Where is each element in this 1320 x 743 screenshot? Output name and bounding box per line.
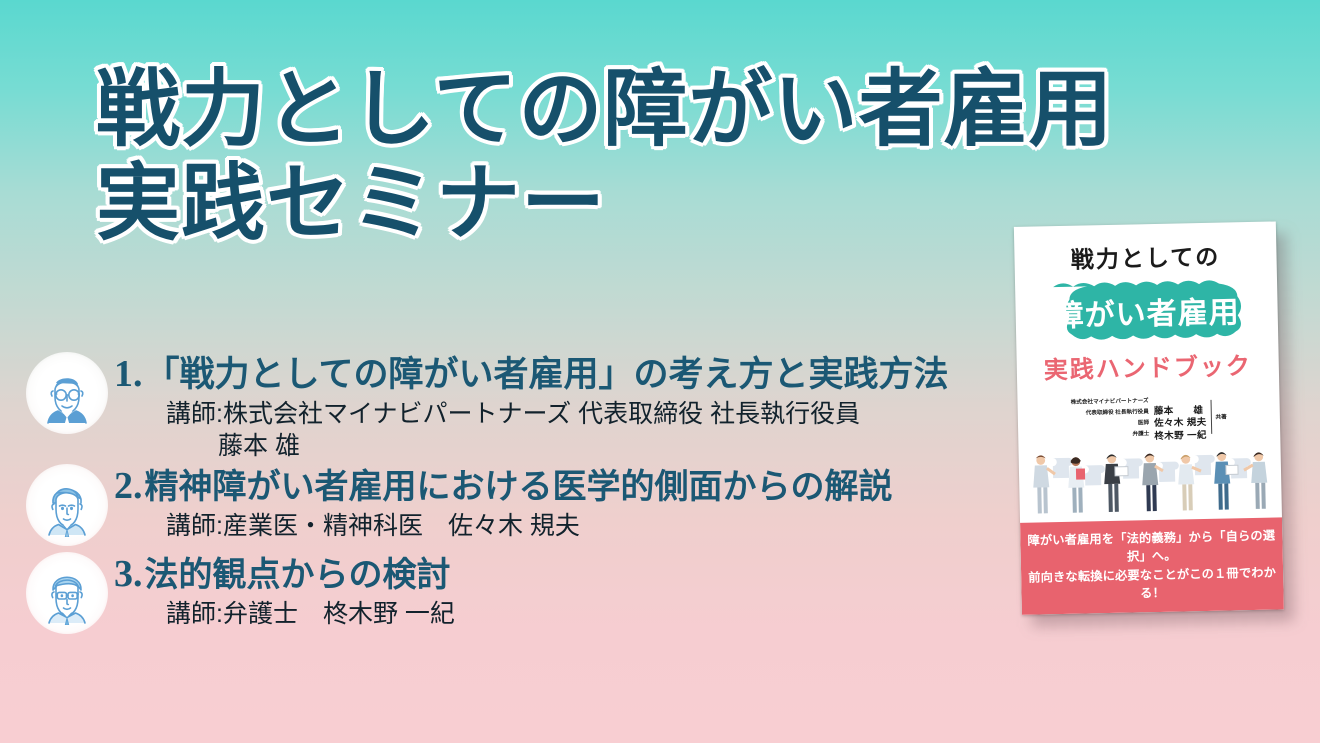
agenda-item-1-speaker-line1: 講師:株式会社マイナビパートナーズ 代表取締役 社長執行役員 bbox=[166, 400, 860, 428]
book-banner: 障がい者雇用を「法的義務」から「自らの選択」へ。 前向きな転換に必要なことがこの… bbox=[1020, 518, 1284, 615]
book-banner-line2: 前向きな転換に必要なことがこの１冊でわかる！ bbox=[1025, 563, 1280, 605]
agenda-item-3-heading: 3.法的観点からの検討 bbox=[114, 554, 1026, 594]
agenda-item-1-title: 「戦力としての障がい者雇用」の考え方と実践方法 bbox=[145, 355, 949, 394]
book-cover: 戦力としての 障がい者雇用 実践ハンドブック 株式会社マイナビパートナーズ 代表… bbox=[1014, 221, 1298, 627]
agenda-item-3: 3.法的観点からの検討 講師:弁護士 柊木野 一紀 bbox=[26, 552, 1026, 634]
agenda-list: 1.「戦力としての障がい者雇用」の考え方と実践方法 講師:株式会社マイナビパート… bbox=[26, 352, 1026, 640]
agenda-item-2: 2.精神障がい者雇用における医学的側面からの解説 講師:産業医・精神科医 佐々木… bbox=[26, 464, 1026, 546]
author-name-2: 佐々木 規夫 bbox=[1154, 418, 1207, 430]
page-title-line-1: 戦力としての障がい者雇用 bbox=[96, 62, 1096, 156]
agenda-item-1-speaker: 講師:株式会社マイナビパートナーズ 代表取締役 社長執行役員 藤本 雄 bbox=[166, 399, 1026, 462]
slide-canvas: 戦力としての障がい者雇用 実践セミナー bbox=[0, 0, 1320, 743]
book-title-blob-text: 障がい者雇用 bbox=[1025, 277, 1268, 345]
agenda-item-2-heading: 2.精神障がい者雇用における医学的側面からの解説 bbox=[114, 466, 1026, 506]
book-title-top: 戦力としての bbox=[1014, 236, 1277, 275]
agenda-item-1-number: 1. bbox=[114, 353, 143, 395]
book-author-credits: 株式会社マイナビパートナーズ 代表取締役 社長執行役員 医師 弁護士 藤本 雄 … bbox=[1043, 390, 1254, 447]
page-title: 戦力としての障がい者雇用 実践セミナー bbox=[96, 62, 1096, 250]
book-author-affiliations: 株式会社マイナビパートナーズ 代表取締役 社長執行役員 医師 弁護士 bbox=[1071, 396, 1150, 441]
agenda-item-3-speaker-line1: 講師:弁護士 柊木野 一紀 bbox=[166, 600, 455, 628]
agenda-item-3-speaker: 講師:弁護士 柊木野 一紀 bbox=[166, 599, 1026, 630]
agenda-item-1: 1.「戦力としての障がい者雇用」の考え方と実践方法 講師:株式会社マイナビパート… bbox=[26, 352, 1026, 462]
portrait-avatar-young-man-icon bbox=[35, 473, 99, 537]
agenda-item-2-speaker: 講師:産業医・精神科医 佐々木 規夫 bbox=[166, 511, 1026, 542]
book-title-blob: 障がい者雇用 bbox=[1025, 277, 1268, 345]
book-joint-author-label: 共著 bbox=[1215, 413, 1226, 421]
portrait-avatar-glasses-icon bbox=[35, 561, 99, 625]
agenda-item-1-heading: 1.「戦力としての障がい者雇用」の考え方と実践方法 bbox=[114, 354, 1026, 394]
author-name-3: 柊木野 一紀 bbox=[1154, 431, 1207, 443]
agenda-item-3-number: 3. bbox=[114, 553, 143, 595]
agenda-item-2-number: 2. bbox=[114, 465, 143, 507]
agenda-item-3-title: 法的観点からの検討 bbox=[145, 556, 451, 594]
people-puzzle-illustration-icon bbox=[1019, 446, 1282, 523]
agenda-item-2-title: 精神障がい者雇用における医学的側面からの解説 bbox=[145, 468, 893, 506]
speaker-avatar-3 bbox=[26, 552, 108, 634]
book-author-names: 藤本 雄 佐々木 規夫 柊木野 一紀 bbox=[1153, 391, 1207, 444]
agenda-item-2-speaker-line1: 講師:産業医・精神科医 佐々木 規夫 bbox=[166, 512, 580, 540]
page-title-line-2: 実践セミナー bbox=[96, 156, 1096, 250]
book-cover-face: 戦力としての 障がい者雇用 実践ハンドブック 株式会社マイナビパートナーズ 代表… bbox=[1014, 221, 1284, 614]
speaker-avatar-1 bbox=[26, 352, 108, 434]
divider bbox=[1210, 400, 1212, 434]
affiliation-3: 弁護士 bbox=[1071, 429, 1149, 442]
agenda-item-1-speaker-line2: 藤本 雄 bbox=[218, 431, 1026, 462]
author-name-1: 藤本 雄 bbox=[1154, 406, 1207, 418]
speaker-avatar-2 bbox=[26, 464, 108, 546]
book-banner-line1: 障がい者雇用を「法的義務」から「自らの選択」へ。 bbox=[1024, 527, 1279, 569]
book-illustration-band bbox=[1019, 446, 1282, 523]
book-title-sub: 実践ハンドブック bbox=[1016, 345, 1279, 385]
portrait-avatar-glasses-suit-icon bbox=[35, 361, 99, 425]
